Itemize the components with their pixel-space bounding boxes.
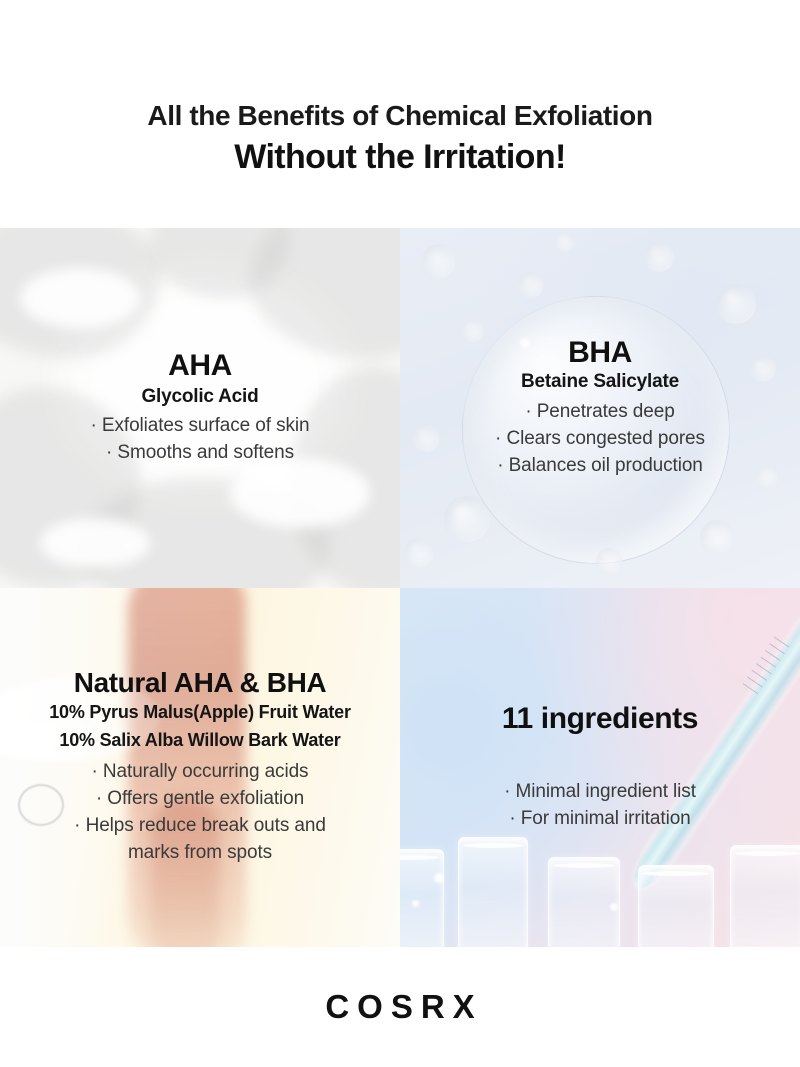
natural-bullet: · Helps reduce break outs and bbox=[74, 813, 326, 840]
aha-bullet: · Smooths and softens bbox=[91, 440, 310, 467]
natural-bullet: · Naturally occurring acids bbox=[74, 759, 326, 786]
aha-subtitle: Glycolic Acid bbox=[141, 385, 258, 409]
header-section: All the Benefits of Chemical Exfoliation… bbox=[0, 0, 800, 228]
natural-bullet-list: · Naturally occurring acids · Offers gen… bbox=[74, 759, 326, 867]
bha-title: BHA bbox=[568, 336, 632, 369]
bha-bullet-list: · Penetrates deep · Clears congested por… bbox=[495, 399, 705, 480]
ingredients-title: 11 ingredients bbox=[502, 702, 698, 735]
ingredients-bullet-list: · Minimal ingredient list · For minimal … bbox=[504, 779, 696, 833]
bha-bullet: · Penetrates deep bbox=[495, 399, 705, 426]
natural-subtitle-line-2: 10% Salix Alba Willow Bark Water bbox=[59, 727, 340, 755]
natural-title: Natural AHA & BHA bbox=[74, 668, 326, 699]
natural-bullet-wrap: marks from spots bbox=[74, 840, 326, 867]
cosrx-logo: COSRX bbox=[317, 988, 482, 1026]
ingredients-content: 11 ingredients · Minimal ingredient list… bbox=[400, 588, 800, 947]
bha-bullet: · Balances oil production bbox=[495, 453, 705, 480]
quadrant-ingredients: 11 ingredients · Minimal ingredient list… bbox=[400, 588, 800, 947]
headline-line-2: Without the Irritation! bbox=[234, 137, 566, 177]
headline-line-1: All the Benefits of Chemical Exfoliation bbox=[147, 100, 652, 131]
aha-content: AHA Glycolic Acid · Exfoliates surface o… bbox=[0, 228, 400, 588]
quadrant-natural-aha-bha: Natural AHA & BHA 10% Pyrus Malus(Apple)… bbox=[0, 588, 400, 947]
footer-section: COSRX bbox=[0, 947, 800, 1067]
natural-content: Natural AHA & BHA 10% Pyrus Malus(Apple)… bbox=[0, 588, 400, 947]
aha-title: AHA bbox=[168, 349, 232, 382]
benefits-grid: AHA Glycolic Acid · Exfoliates surface o… bbox=[0, 228, 800, 947]
natural-subtitle-line-1: 10% Pyrus Malus(Apple) Fruit Water bbox=[49, 699, 351, 727]
bha-bullet: · Clears congested pores bbox=[495, 426, 705, 453]
natural-bullet: · Offers gentle exfoliation bbox=[74, 786, 326, 813]
aha-bullet-list: · Exfoliates surface of skin · Smooths a… bbox=[91, 413, 310, 467]
quadrant-bha: BHA Betaine Salicylate · Penetrates deep… bbox=[400, 228, 800, 588]
quadrant-aha: AHA Glycolic Acid · Exfoliates surface o… bbox=[0, 228, 400, 588]
infographic-page: All the Benefits of Chemical Exfoliation… bbox=[0, 0, 800, 1067]
ingredients-bullet: · Minimal ingredient list bbox=[504, 779, 696, 806]
bha-content: BHA Betaine Salicylate · Penetrates deep… bbox=[400, 228, 800, 588]
aha-bullet: · Exfoliates surface of skin bbox=[91, 413, 310, 440]
ingredients-bullet: · For minimal irritation bbox=[504, 806, 696, 833]
bha-subtitle: Betaine Salicylate bbox=[521, 370, 679, 394]
